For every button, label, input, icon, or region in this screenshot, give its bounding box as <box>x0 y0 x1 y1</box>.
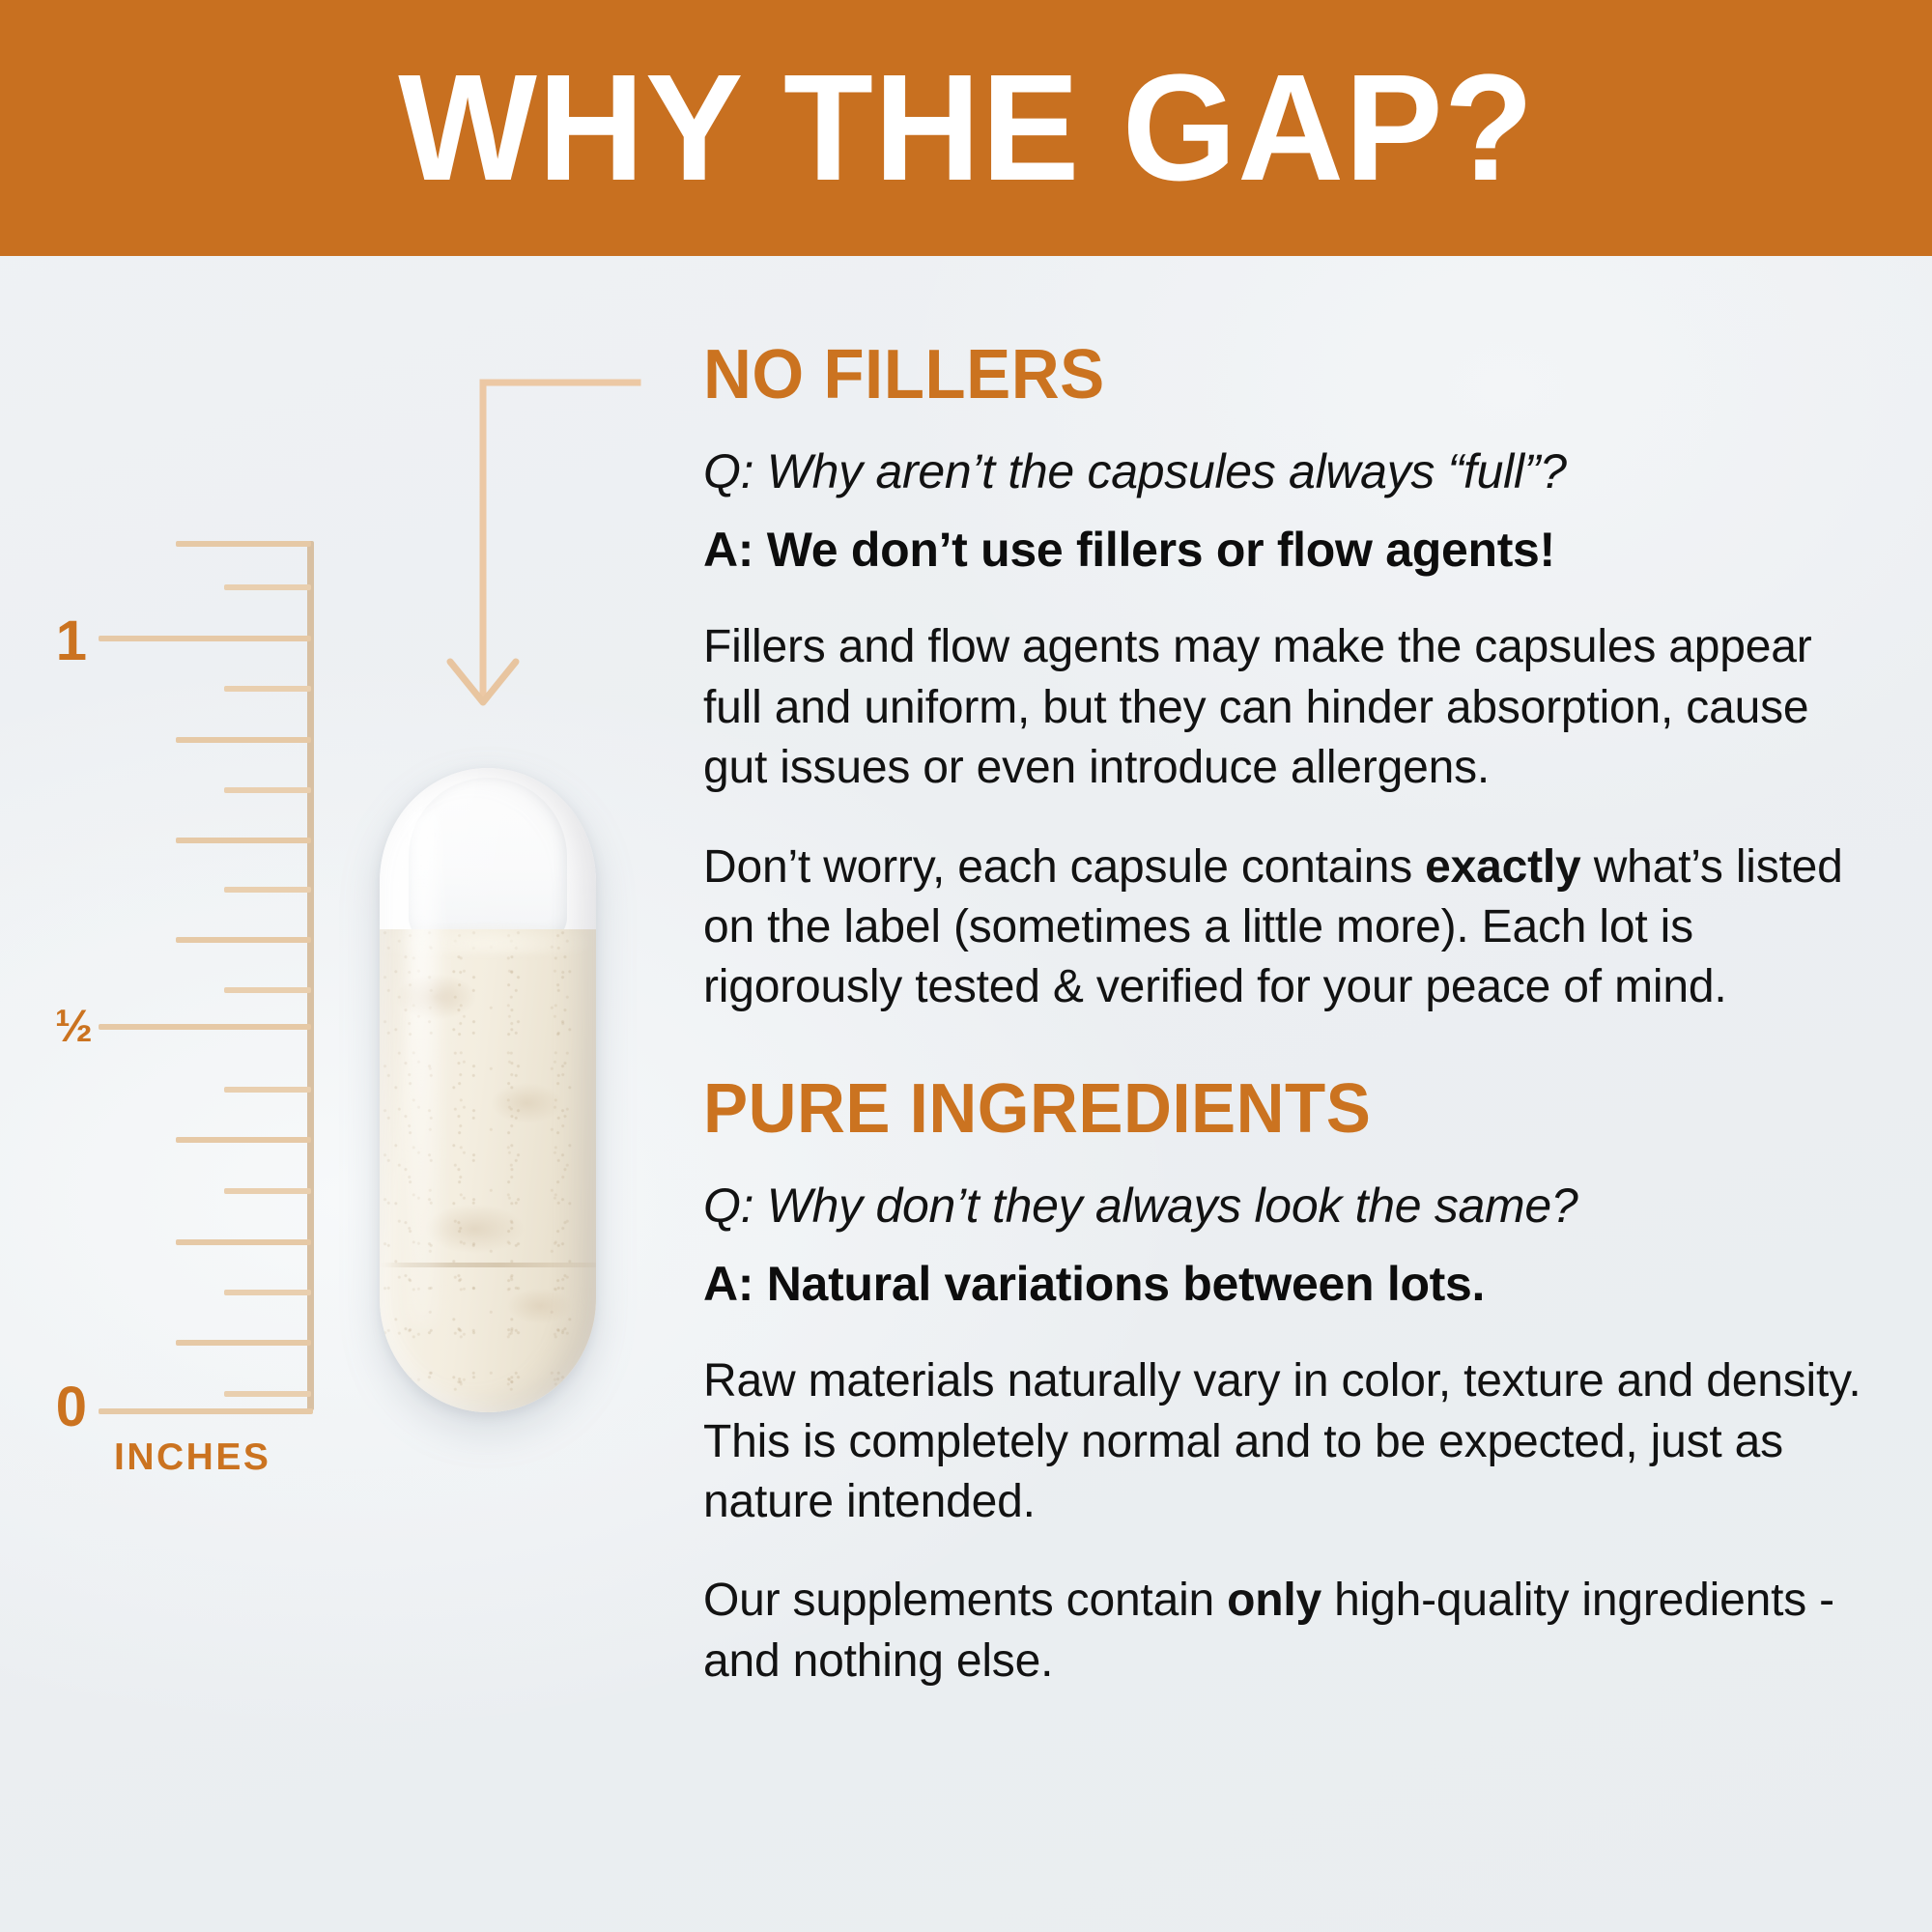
body-text: Raw materials naturally vary in color, t… <box>703 1355 1861 1527</box>
section-no-fillers: NO FILLERS Q: Why aren’t the capsules al… <box>703 340 1891 1018</box>
section-paragraph: Raw materials naturally vary in color, t… <box>703 1351 1877 1532</box>
ruler-tick-major <box>176 737 311 743</box>
ruler-tick-minor <box>224 686 311 692</box>
ruler-tick-major <box>176 937 311 943</box>
body-text: Fillers and flow agents may make the cap… <box>703 621 1812 793</box>
section-answer: A: Natural variations between lots. <box>703 1256 1891 1313</box>
ruler-tick-major <box>176 1137 311 1143</box>
section-heading: PURE INGREDIENTS <box>703 1074 1844 1145</box>
section-paragraph: Our supplements contain only high-qualit… <box>703 1571 1877 1691</box>
ruler-tick-minor <box>224 1087 311 1093</box>
ruler-tick-major <box>176 541 311 547</box>
ruler-unit-label: INCHES <box>114 1436 270 1479</box>
ruler-tick-minor <box>224 584 311 590</box>
emphasis-text: only <box>1227 1575 1321 1626</box>
body-text: Our supplements contain <box>703 1575 1227 1626</box>
ruler-label-0: 0 <box>0 1379 87 1435</box>
ruler-spine <box>307 541 314 1410</box>
capsule-edge-shading <box>380 768 596 1412</box>
section-paragraph: Don’t worry, each capsule contains exact… <box>703 838 1877 1018</box>
ruler-tick-minor <box>224 987 311 993</box>
ruler-tick-minor <box>224 887 311 893</box>
section-paragraph: Fillers and flow agents may make the cap… <box>703 617 1877 798</box>
section-heading: NO FILLERS <box>703 340 1844 411</box>
ruler-tick-minor <box>224 1188 311 1194</box>
ruler-tick-inch-0 <box>99 1408 313 1414</box>
ruler-tick-major <box>176 838 311 843</box>
section-answer: A: We don’t use fillers or flow agents! <box>703 522 1891 579</box>
capsule-shell <box>380 768 596 1412</box>
emphasis-text: exactly <box>1425 841 1580 893</box>
section-pure-ingredients: PURE INGREDIENTS Q: Why don’t they alway… <box>703 1074 1891 1691</box>
section-question: Q: Why don’t they always look the same? <box>703 1178 1891 1235</box>
infographic-page: WHY THE GAP? 1 ½ 0 INCHES <box>0 0 1932 1932</box>
ruler-label-half: ½ <box>0 1003 93 1048</box>
ruler-tick-major <box>176 1239 311 1245</box>
ruler-tick-inch-half <box>99 1024 311 1030</box>
ruler-tick-inch-1 <box>99 636 311 641</box>
ruler-tick-minor <box>224 1290 311 1295</box>
page-title: WHY THE GAP? <box>398 52 1534 204</box>
header-banner: WHY THE GAP? <box>0 0 1932 256</box>
section-question: Q: Why aren’t the capsules always “full”… <box>703 443 1891 500</box>
capsule-image <box>380 768 596 1412</box>
ruler-label-1: 1 <box>0 613 87 669</box>
content-column: NO FILLERS Q: Why aren’t the capsules al… <box>703 340 1891 1691</box>
body-text: Don’t worry, each capsule contains <box>703 841 1425 893</box>
ruler-tick-major <box>176 1340 311 1346</box>
ruler-tick-minor <box>224 1391 311 1397</box>
ruler-tick-minor <box>224 787 311 793</box>
